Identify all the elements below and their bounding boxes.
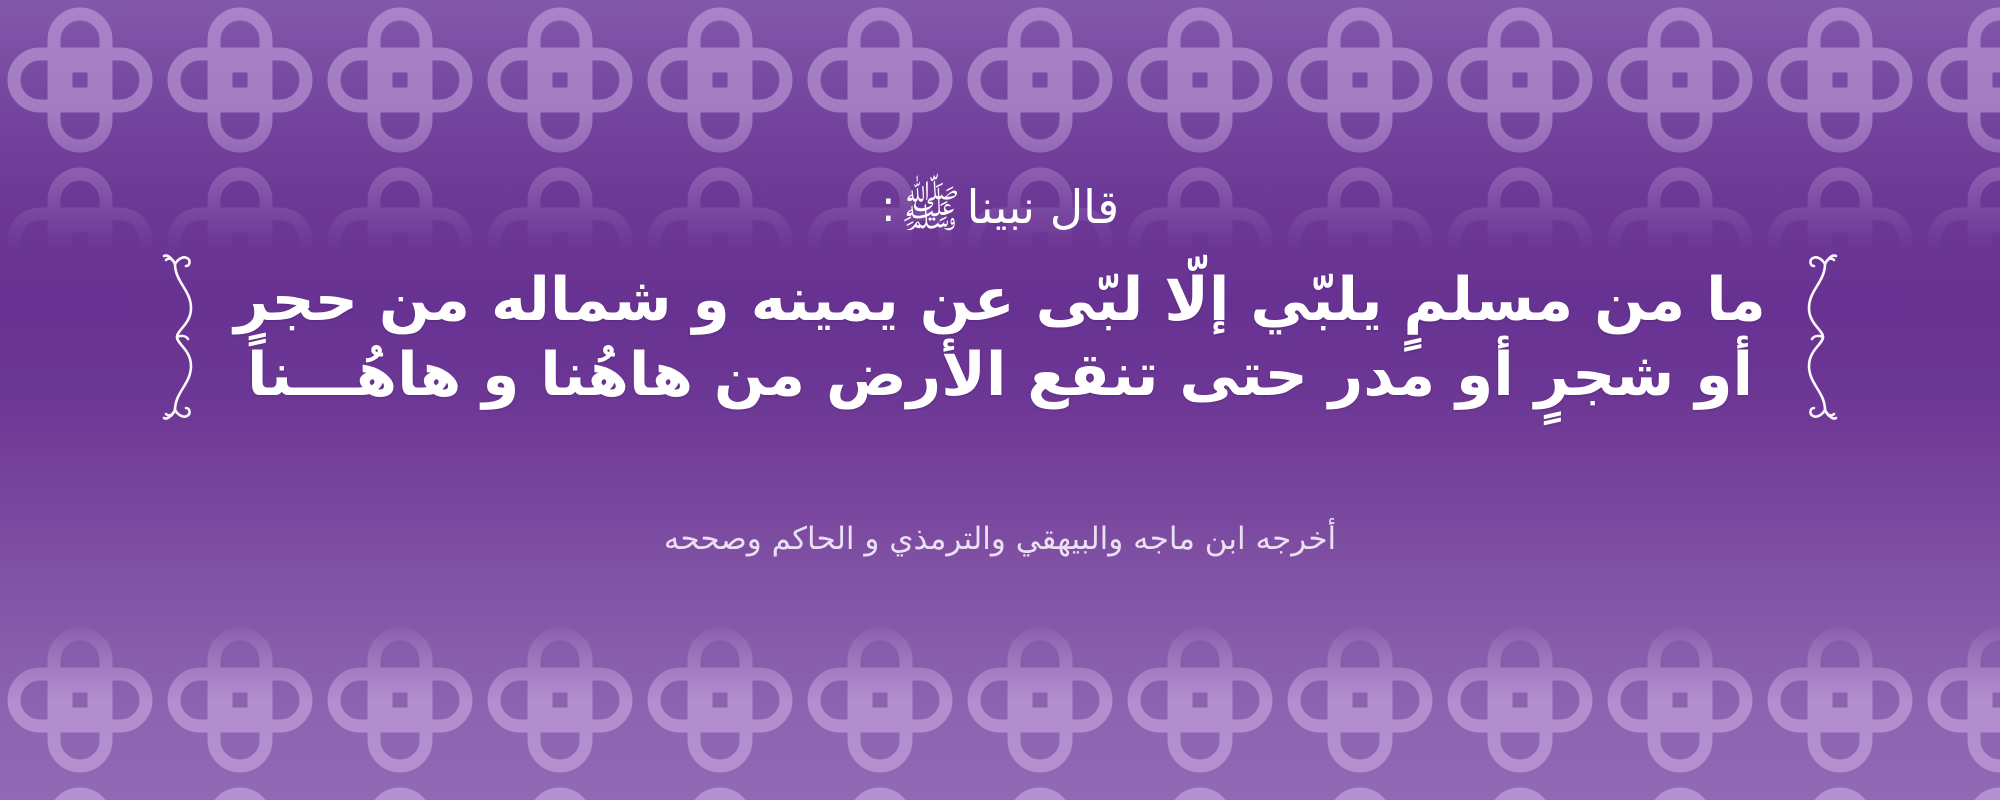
- ornamental-brace-left-icon: [152, 250, 208, 425]
- hadith-banner: قال نبينا ﷺ :: [0, 0, 2000, 800]
- ornamental-brace-right-icon: [1792, 250, 1848, 425]
- intro-line: قال نبينا ﷺ :: [881, 178, 1119, 236]
- attribution-text: أخرجه ابن ماجه والبيهقي والترمذي و الحاك…: [664, 521, 1336, 558]
- banner-content: قال نبينا ﷺ :: [0, 0, 2000, 800]
- hadith-text: ما من مسلمٍ يلبّي إلّا لبّى عن يمينه و ش…: [234, 263, 1766, 412]
- hadith-line-1: ما من مسلمٍ يلبّي إلّا لبّى عن يمينه و ش…: [234, 263, 1766, 337]
- peace-be-upon-him-glyph-icon: ﷺ: [900, 184, 960, 234]
- intro-colon: :: [881, 185, 896, 229]
- quote-block: ما من مسلمٍ يلبّي إلّا لبّى عن يمينه و ش…: [152, 250, 1848, 425]
- intro-text: قال نبينا: [967, 184, 1120, 230]
- hadith-line-2: أو شجرٍ أو مدر حتى تنقع الأرض من هاهُنا …: [234, 338, 1766, 412]
